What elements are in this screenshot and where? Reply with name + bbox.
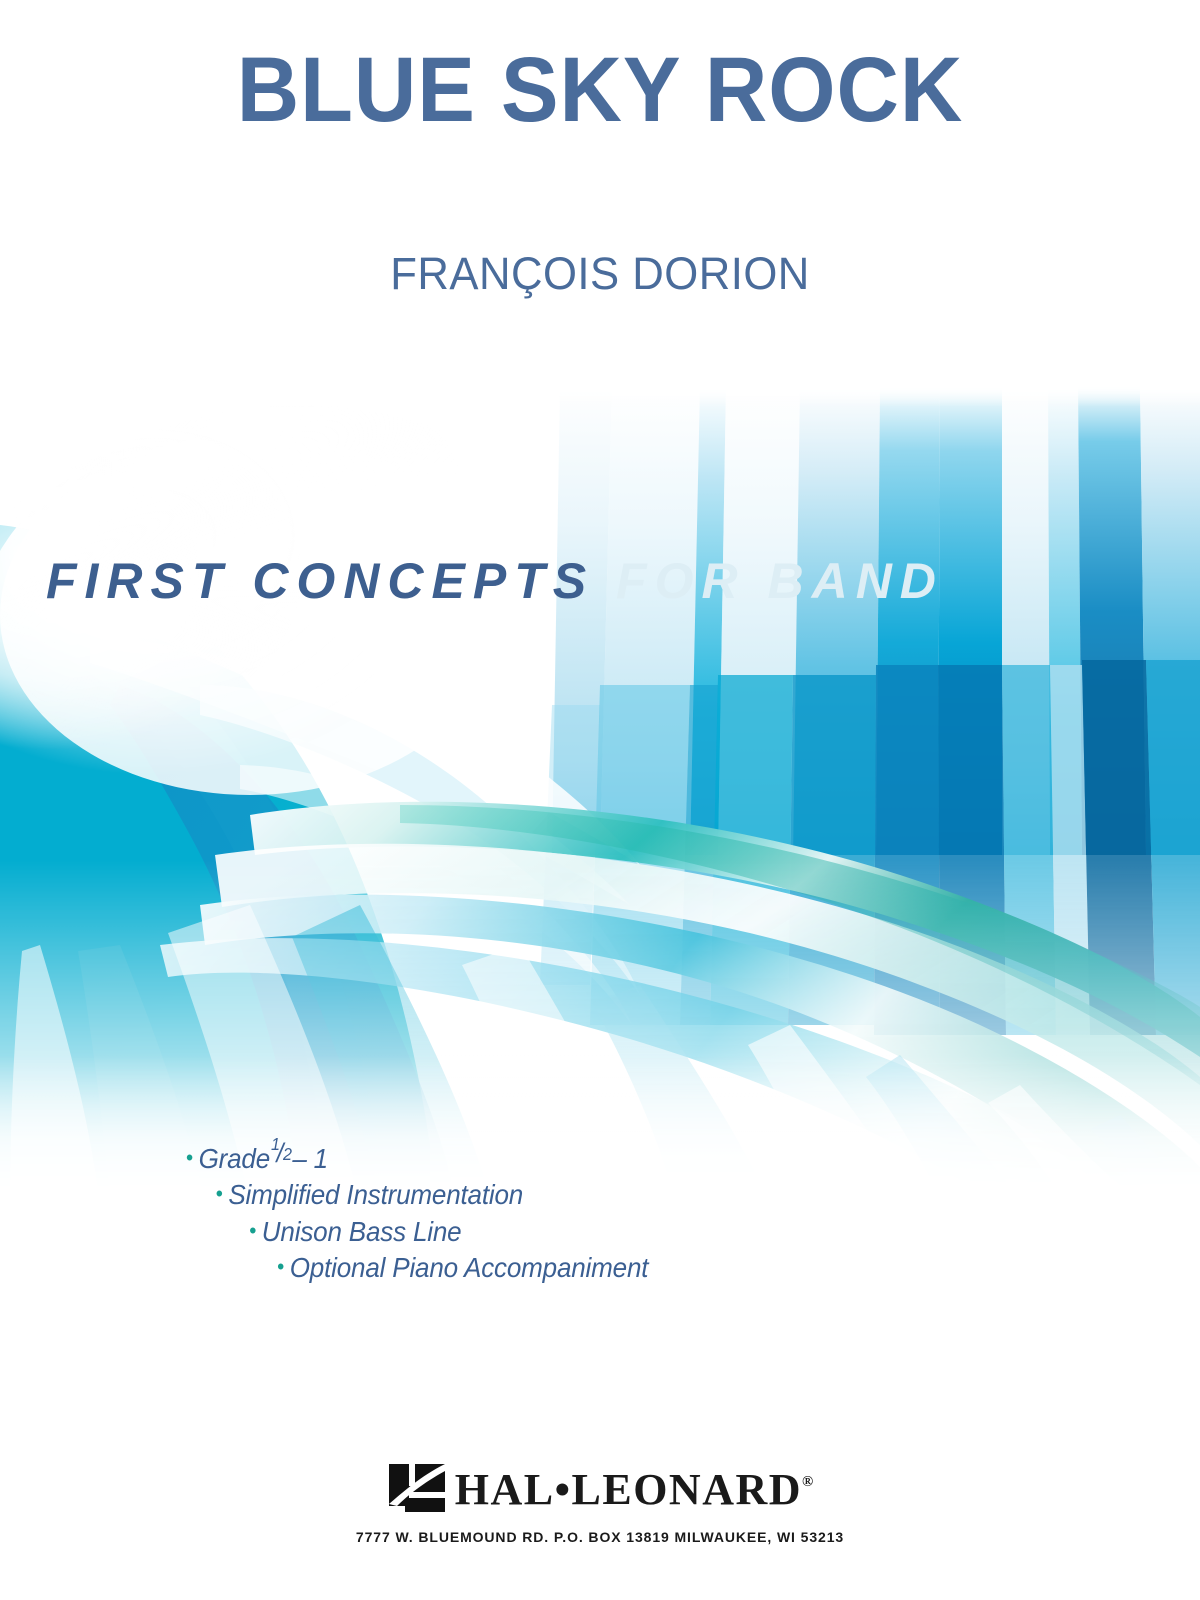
bullet-icon: • — [186, 1145, 193, 1170]
publisher-logo-row: HAL•LEONARD® — [387, 1462, 814, 1514]
series-name-primary: FIRST CONCEPTS — [46, 553, 594, 609]
publisher-address: 7777 W. BLUEMOUND RD. P.O. BOX 13819 MIL… — [0, 1529, 1200, 1545]
cover-title-block: BLUE SKY ROCK FRANÇOIS DORION — [0, 0, 1200, 300]
publisher-block: HAL•LEONARD® 7777 W. BLUEMOUND RD. P.O. … — [0, 1462, 1200, 1545]
series-name-secondary: FOR BAND — [616, 553, 944, 609]
hal-leonard-logo-icon — [387, 1462, 449, 1514]
list-item: •Unison Bass Line — [0, 1214, 1116, 1250]
grade-fraction: 1/2 — [270, 1140, 292, 1168]
fraction-denominator: 2 — [283, 1143, 292, 1166]
abstract-swoosh-graphic — [0, 385, 1200, 1205]
feature-text-grade-prefix: Grade — [199, 1143, 270, 1174]
page-title: BLUE SKY ROCK — [36, 0, 1164, 136]
feature-text: Unison Bass Line — [262, 1216, 462, 1247]
list-item: •Simplified Instrumentation — [0, 1177, 1116, 1213]
list-item: •Optional Piano Accompaniment — [0, 1250, 1116, 1286]
list-item: •Grade1/2– 1 — [0, 1140, 1116, 1177]
bullet-icon: • — [216, 1181, 223, 1206]
feature-text: Simplified Instrumentation — [228, 1179, 523, 1210]
bullet-icon: • — [249, 1218, 256, 1243]
feature-list: •Grade1/2– 1 •Simplified Instrumentation… — [0, 1140, 1200, 1287]
feature-text-grade-suffix: – 1 — [292, 1143, 328, 1174]
series-banner: FIRST CONCEPTS FOR BAND — [46, 552, 944, 610]
feature-text: Optional Piano Accompaniment — [290, 1252, 649, 1283]
bullet-icon: • — [277, 1254, 284, 1279]
cover-artwork — [0, 385, 1200, 1205]
registered-trademark-icon: ® — [802, 1474, 813, 1490]
composer-name: FRANÇOIS DORION — [18, 136, 1182, 300]
publisher-name: HAL•LEONARD® — [455, 1468, 814, 1512]
